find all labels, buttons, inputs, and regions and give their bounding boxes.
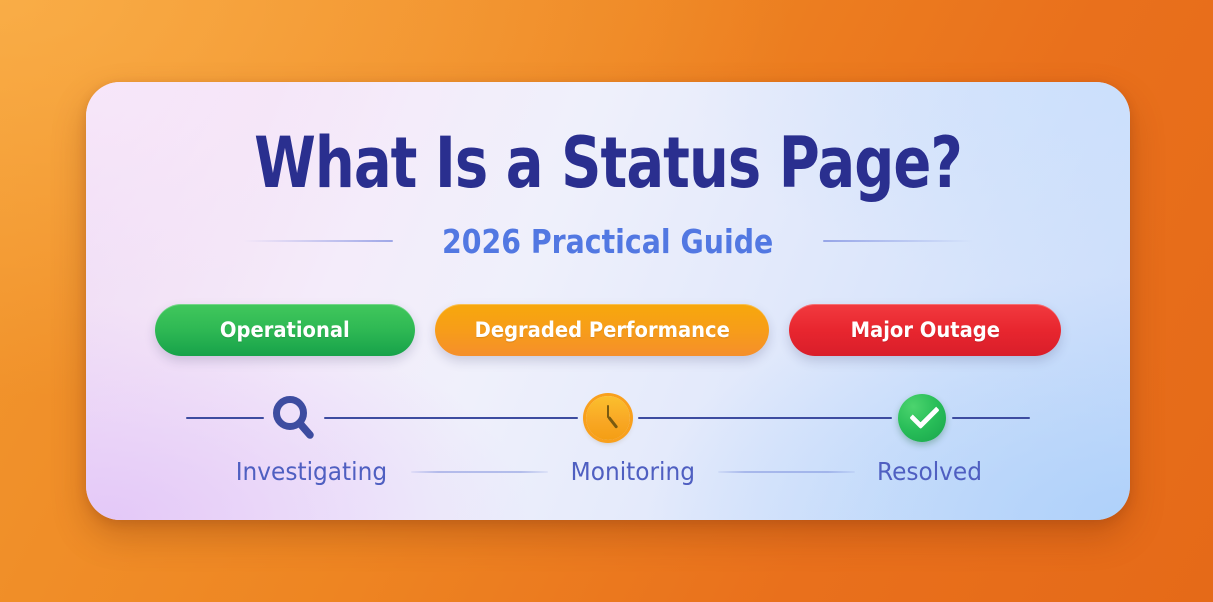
status-page-card: What Is a Status Page? 2026 Practical Gu… [86, 82, 1130, 520]
subtitle-rule-left [243, 240, 393, 242]
subtitle-rule-right [823, 240, 973, 242]
timeline-label-resolved: Resolved [877, 457, 982, 486]
timeline-icon-row [186, 387, 1030, 449]
timeline-label-investigating: Investigating [236, 457, 387, 486]
magnifying-glass-icon [268, 392, 320, 444]
status-badge-label: Major Outage [851, 318, 1000, 342]
check-circle-icon [898, 394, 946, 442]
checkmark-glyph [909, 399, 939, 429]
status-badge-label: Degraded Performance [474, 318, 729, 342]
clock-hand-minute [607, 416, 618, 429]
timeline-label-rule-2 [718, 471, 855, 473]
timeline-label-rule-1 [411, 471, 548, 473]
infographic-canvas: What Is a Status Page? 2026 Practical Gu… [0, 0, 1213, 602]
status-badge-row: Operational Degraded Performance Major O… [86, 304, 1130, 356]
timeline-connector-2 [638, 417, 892, 419]
status-badge-degraded-performance[interactable]: Degraded Performance [435, 304, 769, 356]
timeline-label-monitoring: Monitoring [571, 457, 695, 486]
status-badge-operational[interactable]: Operational [155, 304, 415, 356]
status-badge-major-outage[interactable]: Major Outage [789, 304, 1061, 356]
incident-timeline: Investigating Monitoring Resolved [186, 387, 1030, 497]
timeline-step-investigating[interactable] [264, 388, 324, 448]
timeline-connector-start [186, 417, 264, 419]
timeline-step-monitoring[interactable] [578, 388, 638, 448]
timeline-step-resolved[interactable] [892, 388, 952, 448]
clock-icon [586, 396, 630, 440]
timeline-connector-end [952, 417, 1030, 419]
timeline-label-row: Investigating Monitoring Resolved [186, 457, 1030, 486]
page-subtitle: 2026 Practical Guide [442, 222, 773, 261]
subtitle-row: 2026 Practical Guide [86, 220, 1130, 262]
status-badge-label: Operational [220, 318, 350, 342]
page-title: What Is a Status Page? [190, 128, 1025, 198]
timeline-connector-1 [324, 417, 578, 419]
